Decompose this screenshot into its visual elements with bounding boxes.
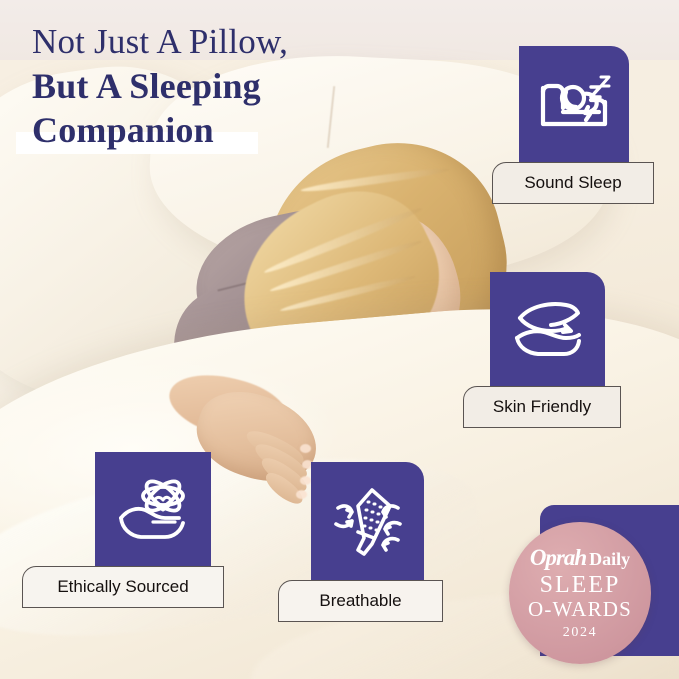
fingernail: [296, 490, 307, 499]
headline-line-3: Companion: [32, 108, 288, 152]
fingernail: [300, 444, 311, 453]
feature-badge-skin-friendly[interactable]: Skin Friendly: [490, 272, 660, 432]
headline-line-2: But A Sleeping: [32, 64, 288, 108]
feature-badge-ethically-sourced[interactable]: Ethically Sourced: [95, 452, 295, 612]
award-line-2: O-WARDS: [528, 598, 632, 621]
award-seal-oprah-daily[interactable]: Oprah Daily SLEEP O-WARDS 2024: [509, 505, 679, 679]
feature-label: Breathable: [278, 580, 443, 622]
product-feature-banner: Not Just A Pillow, But A Sleeping Compan…: [0, 0, 679, 679]
hand-holding-feather-icon: [508, 294, 588, 364]
feature-badge-breathable[interactable]: Breathable: [311, 462, 481, 622]
feature-badge-sound-sleep[interactable]: Sound Sleep: [519, 46, 679, 206]
feature-icon-tile: [519, 46, 629, 162]
feature-label: Skin Friendly: [463, 386, 621, 428]
feature-icon-tile: [490, 272, 605, 386]
headline-line-1: Not Just A Pillow,: [32, 22, 288, 62]
feature-icon-tile: [311, 462, 424, 580]
fingernail: [300, 476, 311, 485]
oprah-script-logo: Oprah: [530, 546, 586, 569]
bed-sleeping-person-zzz-icon: [535, 68, 613, 140]
hand-holding-atom-heart-icon: [113, 472, 193, 546]
perforated-fabric-airflow-icon: [328, 482, 408, 560]
feature-label: Ethically Sourced: [22, 566, 224, 608]
daily-wordmark: Daily: [589, 550, 630, 568]
headline: Not Just A Pillow, But A Sleeping Compan…: [32, 22, 288, 152]
award-line-1: SLEEP: [540, 573, 621, 598]
feature-icon-tile: [95, 452, 211, 566]
award-year: 2024: [563, 625, 597, 641]
award-brand: Oprah Daily: [530, 546, 630, 569]
feature-label: Sound Sleep: [492, 162, 654, 204]
award-seal-circle: Oprah Daily SLEEP O-WARDS 2024: [509, 522, 651, 664]
